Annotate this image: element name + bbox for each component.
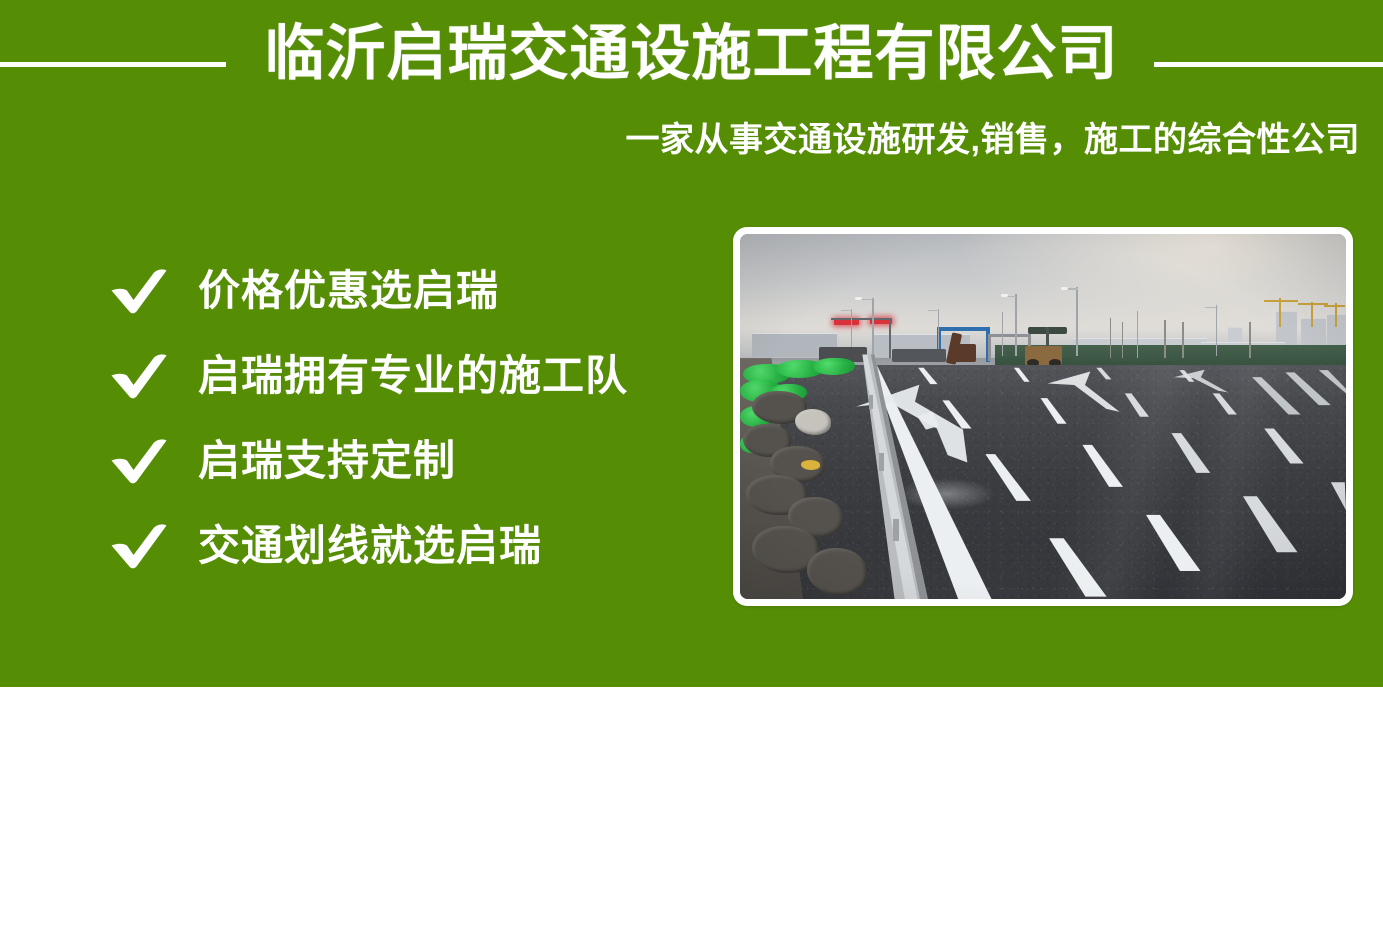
banner-header: 临沂启瑞交通设施工程有限公司: [0, 16, 1383, 92]
check-icon: [110, 353, 168, 399]
company-title: 临沂启瑞交通设施工程有限公司: [0, 16, 1383, 92]
feature-item-label: 价格优惠选启瑞: [198, 268, 499, 314]
feature-item-3: 启瑞支持定制: [110, 418, 710, 503]
page-body: [0, 687, 1383, 946]
company-tagline: 一家从事交通设施研发,销售，施工的综合性公司: [0, 112, 1360, 161]
check-icon: [110, 523, 168, 569]
feature-item-label: 启瑞支持定制: [198, 438, 456, 484]
title-rule-right-icon: [1154, 62, 1383, 67]
check-icon: [110, 268, 168, 314]
feature-item-2: 启瑞拥有专业的施工队: [110, 333, 710, 418]
feature-list: 价格优惠选启瑞 启瑞拥有专业的施工队 启瑞支持定制 交通划线就选启瑞: [110, 248, 710, 588]
road-marking-project-photo: [740, 234, 1346, 599]
check-icon: [110, 438, 168, 484]
promo-banner: 临沂启瑞交通设施工程有限公司 一家从事交通设施研发,销售，施工的综合性公司 价格…: [0, 0, 1383, 687]
project-photo-card: [733, 227, 1353, 606]
feature-item-label: 启瑞拥有专业的施工队: [198, 353, 628, 399]
feature-item-label: 交通划线就选启瑞: [198, 523, 542, 569]
feature-item-1: 价格优惠选启瑞: [110, 248, 710, 333]
photo-vignette: [740, 234, 1346, 599]
feature-item-4: 交通划线就选启瑞: [110, 503, 710, 588]
